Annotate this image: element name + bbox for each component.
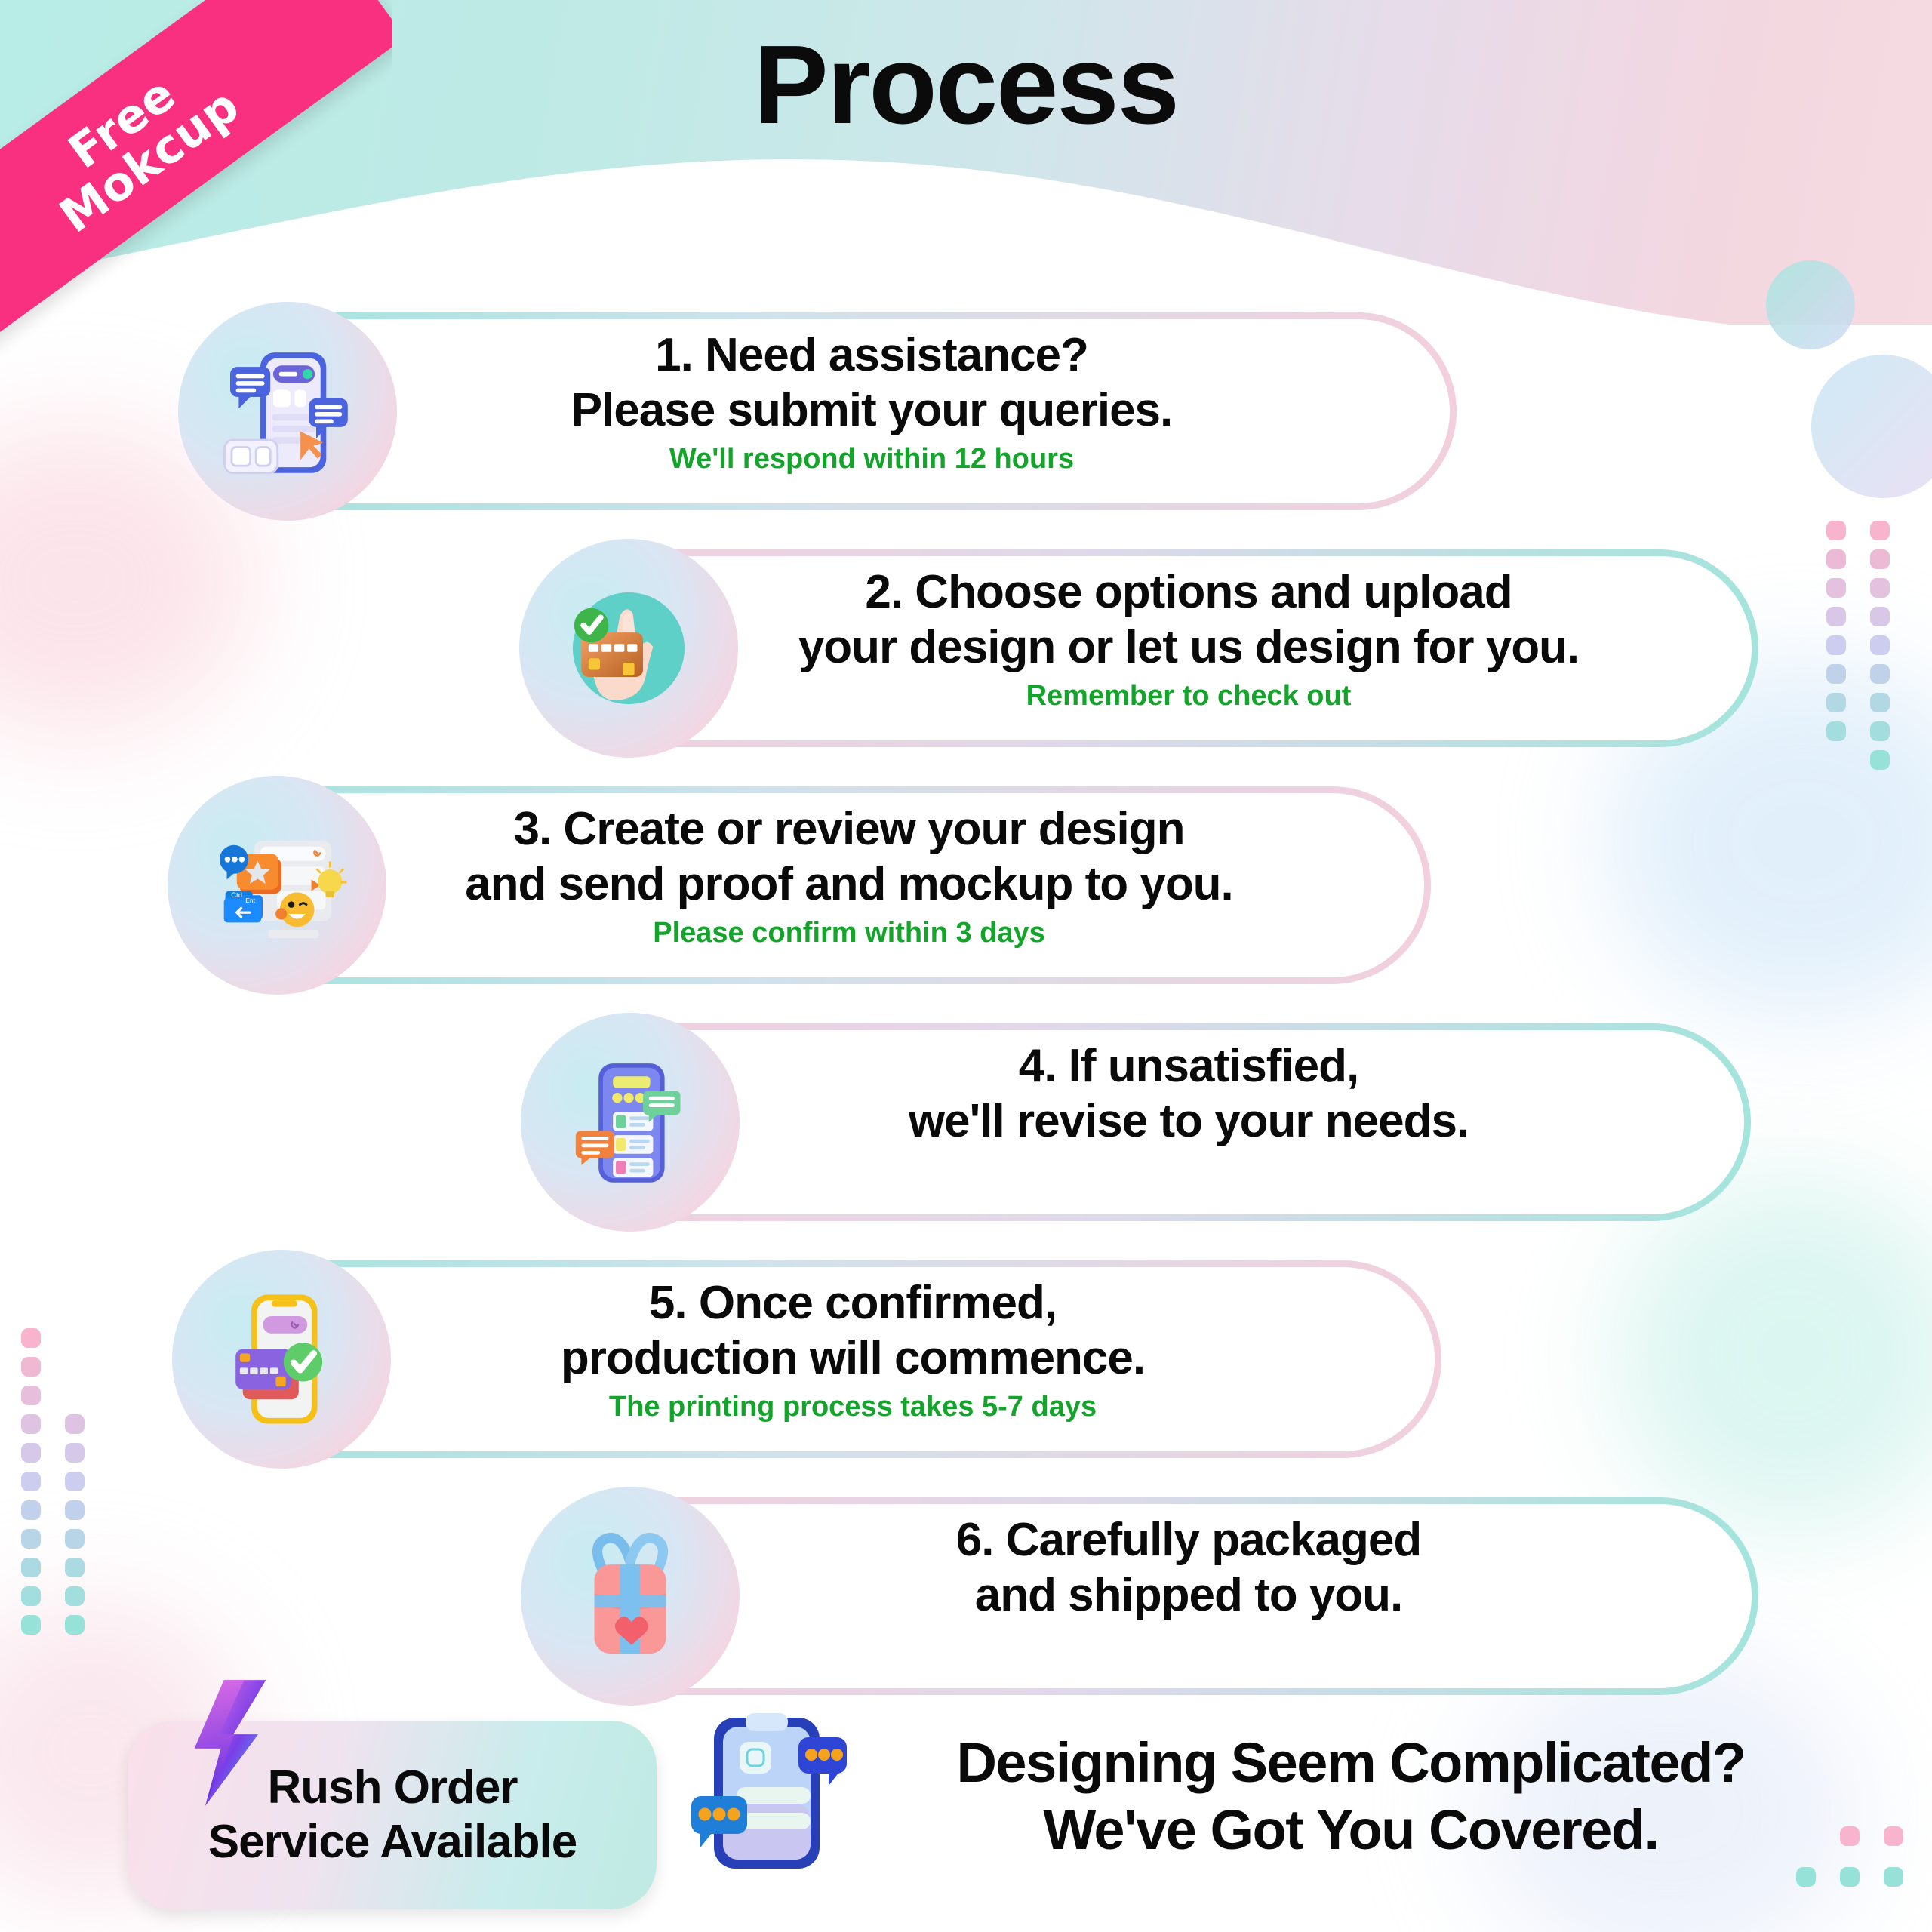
svg-text:Ctrl: Ctrl [231,891,242,900]
step-5-text: 5. Once confirmed, production will comme… [317,1275,1389,1425]
step-3-subtitle: Please confirm within 3 days [317,916,1381,951]
step-3-line-2: and send proof and mockup to you. [317,857,1381,912]
process-step-5: 5. Once confirmed, production will comme… [0,1250,1932,1476]
footer-tagline-line-2: We've Got You Covered. [875,1797,1826,1864]
clipboard-chat-icon [679,1713,853,1902]
footer-tagline: Designing Seem Complicated? We've Got Yo… [875,1730,1826,1864]
step-5-subtitle: The printing process takes 5-7 days [317,1390,1389,1425]
step-3-text: 3. Create or review your design and send… [317,801,1381,951]
step-5-line-2: production will commence. [317,1331,1389,1386]
process-steps-list: 1. Need assistance? Please submit your q… [0,302,1932,1724]
step-2-line-2: your design or let us design for you. [679,620,1698,675]
rush-order-line-2: Service Available [208,1815,577,1869]
step-2-text: 2. Choose options and upload your design… [679,565,1698,714]
step-2-subtitle: Remember to check out [679,679,1698,714]
step-5-line-1: 5. Once confirmed, [317,1275,1389,1331]
step-4-text: 4. If unsatisfied, we'll revise to your … [679,1038,1698,1153]
free-mockup-ribbon: Free Mokcup [0,0,392,392]
process-step-3: Ctrl Ent [0,776,1932,1002]
poster-canvas: Free Mokcup Process [0,0,1932,1932]
process-step-2: 2. Choose options and upload your design… [0,539,1932,765]
step-2-line-1: 2. Choose options and upload [679,565,1698,620]
footer-section: Rush Order Service Available [0,1690,1932,1932]
step-1-line-1: 1. Need assistance? [325,328,1419,383]
process-step-6: 6. Carefully packaged and shipped to you… [0,1487,1932,1713]
process-step-4: 4. If unsatisfied, we'll revise to your … [0,1013,1932,1239]
step-4-line-1: 4. If unsatisfied, [679,1038,1698,1094]
rush-order-line-1: Rush Order [267,1761,517,1815]
step-3-line-1: 3. Create or review your design [317,801,1381,857]
step-1-line-2: Please submit your queries. [325,383,1419,438]
step-1-text: 1. Need assistance? Please submit your q… [325,328,1419,477]
svg-text:Ent: Ent [245,897,255,904]
step-1-subtitle: We'll respond within 12 hours [325,442,1419,477]
lightning-bolt-icon [181,1677,279,1809]
step-4-line-2: we'll revise to your needs. [679,1094,1698,1149]
step-6-line-1: 6. Carefully packaged [679,1512,1698,1567]
footer-tagline-line-1: Designing Seem Complicated? [875,1730,1826,1797]
step-6-text: 6. Carefully packaged and shipped to you… [679,1512,1698,1627]
step-6-line-2: and shipped to you. [679,1567,1698,1623]
